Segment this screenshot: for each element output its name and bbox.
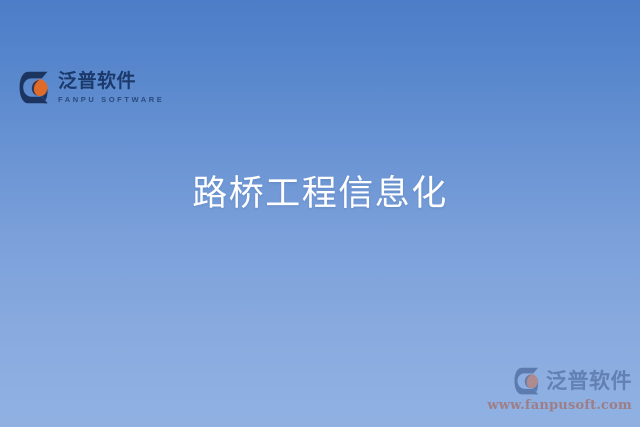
watermark-logo-row: 泛普软件 xyxy=(480,367,632,395)
slide-title: 路桥工程信息化 xyxy=(0,174,640,215)
brand-name-en: FANPU SOFTWARE xyxy=(58,96,164,104)
fanpu-shield-swoosh-logo-icon xyxy=(514,367,541,395)
watermark: 泛普软件 www.fanpusoft.com xyxy=(480,367,632,413)
brand-name-cn: 泛普软件 xyxy=(58,72,164,92)
fanpu-shield-swoosh-logo-icon xyxy=(19,71,51,104)
watermark-url: www.fanpusoft.com xyxy=(480,398,632,413)
watermark-name-cn: 泛普软件 xyxy=(546,371,632,392)
brand-wordmark: 泛普软件 FANPU SOFTWARE xyxy=(58,72,164,103)
brand-logo: 泛普软件 FANPU SOFTWARE xyxy=(19,71,164,104)
presentation-slide: 泛普软件 FANPU SOFTWARE 路桥工程信息化 泛普软件 www.fan… xyxy=(0,0,640,427)
